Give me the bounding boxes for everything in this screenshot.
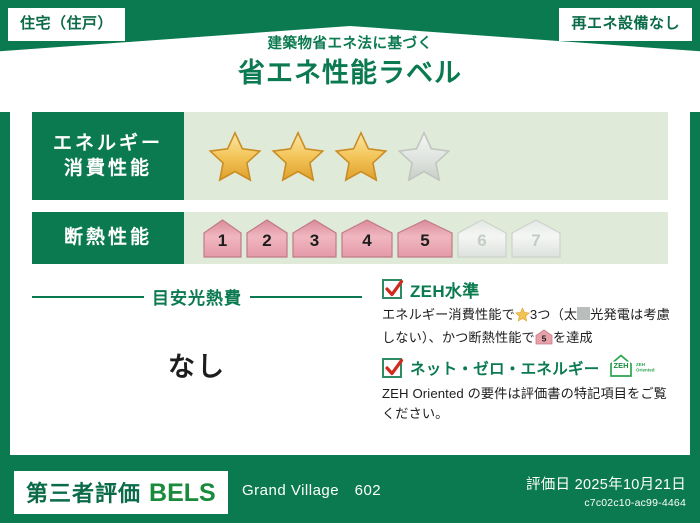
insulation-grade-4: 4 — [340, 217, 394, 259]
lower-section: 目安光熱費 なし ZEH水準 — [10, 276, 690, 452]
zeh-standard-checkbox[interactable] — [382, 279, 402, 299]
inline-star-icon — [515, 307, 530, 328]
svg-text:ZEH: ZEH — [613, 361, 628, 370]
page-title: 省エネ性能ラベル — [0, 56, 700, 90]
insulation-grade-7: 7 — [510, 217, 562, 259]
insulation-grade-1: 1 — [202, 217, 243, 259]
zeh-standard-description: エネルギー消費性能で3つ（太光発電は考慮しない）、かつ断熱性能で5を達成 — [382, 305, 672, 351]
cost-rule-right — [250, 296, 362, 298]
zeh-standard-heading: ZEH水準 — [382, 276, 672, 302]
insulation-grade-label: 1 — [218, 231, 227, 259]
insulation-grade-label: 7 — [531, 231, 540, 259]
zeh-netzero-heading: ネット・ゼロ・エネルギー ZEH ZEH Oriented — [382, 355, 672, 381]
insulation-grade-5: 5 — [396, 217, 454, 259]
energy-label-line2: 消費性能 — [64, 156, 152, 181]
check-icon — [384, 278, 404, 300]
bels-energy-label: 建築物省エネ法に基づく 省エネ性能ラベル 住宅（住戸） 再エネ設備なし エネルギ… — [0, 0, 700, 523]
evaluation-id: c7c02c10-ac99-4464 — [526, 497, 686, 509]
insulation-performance-label: 断熱性能 — [32, 212, 184, 264]
building-name: Grand Village 602 — [242, 479, 381, 500]
insulation-grade-label: 2 — [262, 231, 271, 259]
insulation-grade-label: 3 — [310, 231, 319, 259]
zeh-standard-title: ZEH水準 — [410, 277, 480, 302]
insulation-grade-label: 5 — [420, 231, 429, 259]
label-body: エネルギー 消費性能 断熱性能 1234567 目安光熱費 なし — [10, 100, 690, 455]
insulation-grade-6: 6 — [456, 217, 508, 259]
cost-rule-left — [32, 296, 144, 298]
insulation-performance-row: 断熱性能 1234567 — [32, 212, 668, 264]
star-filled-icon — [334, 130, 388, 182]
badge-renewable-equipment: 再エネ設備なし — [559, 8, 692, 41]
insulation-grade-label: 4 — [362, 231, 371, 259]
zeh-panel: ZEH水準 エネルギー消費性能で3つ（太光発電は考慮しない）、かつ断熱性能で5を… — [382, 276, 672, 452]
zeh-desc-part1: エネルギー消費性能で — [382, 307, 515, 322]
star-filled-icon — [208, 130, 262, 182]
evaluation-date: 評価日 2025年10月21日 — [526, 473, 686, 494]
label-footer: 第三者評価 BELS Grand Village 602 評価日 2025年10… — [0, 461, 700, 523]
insulation-performance-value: 1234567 — [184, 212, 668, 264]
utility-cost-panel: 目安光熱費 なし — [32, 276, 362, 452]
zeh-desc-stars: 3つ（太 — [530, 307, 577, 322]
energy-performance-value — [184, 112, 668, 200]
svg-text:Oriented: Oriented — [636, 367, 655, 372]
header-title-group: 建築物省エネ法に基づく 省エネ性能ラベル — [0, 34, 700, 90]
insulation-grade-label: 6 — [477, 231, 486, 259]
bels-logo: 第三者評価 BELS — [14, 471, 228, 514]
utility-cost-value: なし — [32, 345, 362, 384]
badge-building-type: 住宅（住戸） — [8, 8, 125, 41]
zeh-netzero-block: ネット・ゼロ・エネルギー ZEH ZEH Oriented ZEH Orient… — [382, 355, 672, 424]
energy-label-line1: エネルギー — [53, 131, 163, 156]
zeh-netzero-checkbox[interactable] — [382, 358, 402, 378]
star-rating — [208, 130, 451, 182]
energy-performance-row: エネルギー 消費性能 — [32, 112, 668, 200]
star-empty-icon — [397, 130, 451, 182]
svg-text:5: 5 — [541, 334, 546, 344]
energy-performance-label: エネルギー 消費性能 — [32, 112, 184, 200]
footer-meta: 評価日 2025年10月21日 c7c02c10-ac99-4464 — [526, 473, 686, 509]
check-icon — [384, 357, 404, 379]
utility-cost-heading: 目安光熱費 — [32, 284, 362, 309]
insulation-grade-scale: 1234567 — [202, 217, 564, 259]
zeh-netzero-description: ZEH Oriented の要件は評価書の特記項目をご覧ください。 — [382, 384, 672, 424]
inline-grade-badge: 5 — [535, 329, 553, 351]
bels-jp-label: 第三者評価 — [26, 476, 141, 508]
bels-en-label: BELS — [149, 479, 216, 508]
redacted-character — [577, 307, 590, 320]
insulation-grade-2: 2 — [245, 217, 289, 259]
zeh-desc-part3: を達成 — [553, 330, 593, 345]
star-filled-icon — [271, 130, 325, 182]
utility-cost-title: 目安光熱費 — [152, 284, 242, 309]
zeh-netzero-title: ネット・ゼロ・エネルギー — [410, 357, 600, 379]
insulation-grade-3: 3 — [291, 217, 338, 259]
svg-text:ZEH: ZEH — [636, 362, 645, 367]
zeh-oriented-logo-icon: ZEH ZEH Oriented — [609, 353, 661, 384]
zeh-standard-block: ZEH水準 エネルギー消費性能で3つ（太光発電は考慮しない）、かつ断熱性能で5を… — [382, 276, 672, 351]
